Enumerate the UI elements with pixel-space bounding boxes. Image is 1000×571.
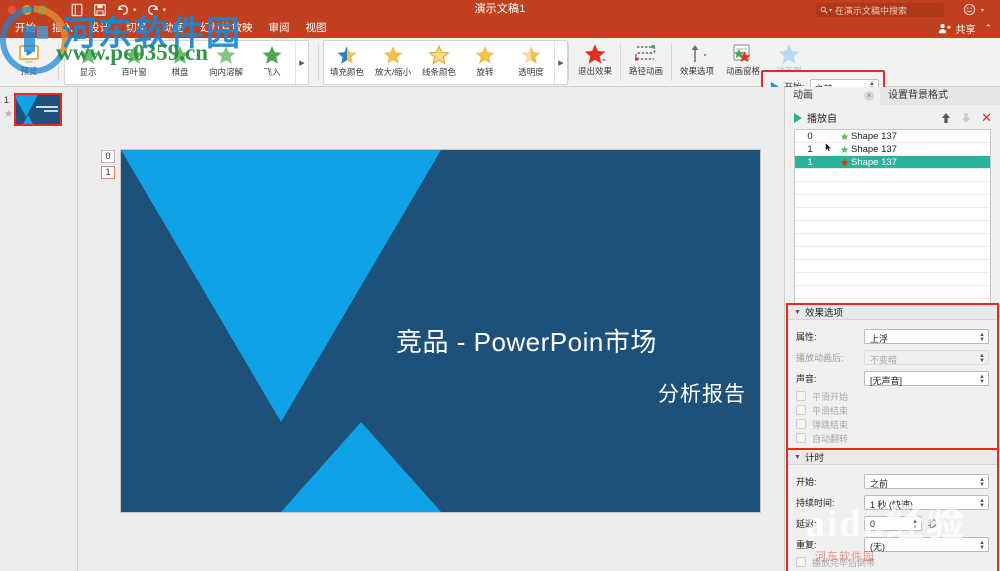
arrow-up-icon — [685, 41, 709, 67]
property-select[interactable]: 上浮 ▲▼ — [864, 329, 989, 344]
timing-title: 计时 — [805, 450, 824, 464]
motion-paths-button[interactable]: 路径动画 — [623, 38, 669, 85]
timing-repeat-label: 重复: — [796, 538, 864, 551]
star-red-icon — [583, 41, 607, 67]
tab-view[interactable]: 视图 — [298, 19, 335, 38]
animation-pane-icon — [731, 41, 755, 67]
auto-reverse-label: 自动翻转 — [812, 432, 848, 445]
animation-list[interactable]: 0 Shape 137 1 Shape 137 1 — [794, 129, 991, 311]
preview-play-icon — [17, 41, 41, 67]
tab-animation-pane[interactable]: 动画 × — [785, 87, 880, 105]
star-icon — [4, 109, 13, 118]
after-animation-value: 不变暗 — [870, 355, 897, 365]
star-fade-icon — [520, 42, 542, 68]
slide-editor: 0 1 竞品 - PowerPoin市场 分析报告 — [78, 87, 784, 571]
effect-label: 线条颜色 — [422, 68, 456, 77]
ribbon-group-emphasis: 填充颜色 放大/缩小 线条颜色 — [323, 38, 568, 87]
effect-appear[interactable]: 显示 — [65, 39, 111, 86]
ribbon-divider — [671, 44, 672, 81]
effect-label: 透明度 — [518, 68, 544, 77]
animation-pane-label: 动画窗格 — [726, 67, 760, 76]
star-outline-icon — [428, 42, 450, 68]
stepper-arrows-icon: ▲▼ — [978, 352, 986, 365]
smooth-start-checkbox[interactable] — [796, 391, 806, 401]
list-empty-row — [795, 208, 990, 221]
preview-button[interactable]: 预览 — [6, 38, 52, 85]
slide-subtitle-text[interactable]: 分析报告 — [658, 378, 746, 408]
property-row: 属性: 上浮 ▲▼ — [796, 326, 989, 347]
animation-pane-button[interactable]: 动画窗格 — [720, 38, 766, 85]
effect-label: 向内溶解 — [209, 68, 243, 77]
exit-effects-label: 退出效果 — [578, 67, 612, 76]
thumb-triangle-bottom — [23, 115, 33, 124]
list-empty-row — [795, 273, 990, 286]
effect-options-button[interactable]: 效果选项 — [674, 38, 720, 85]
stepper-arrows-icon[interactable]: ▲▼ — [978, 539, 986, 552]
timing-repeat-row: 重复: (无) ▲▼ — [796, 534, 989, 555]
property-value: 上浮 — [870, 334, 888, 344]
ribbon-divider — [58, 44, 59, 81]
ribbon-divider — [568, 44, 569, 81]
effect-options-section: ▼ 效果选项 属性: 上浮 ▲▼ 播放动画后: 不变暗 ▲▼ — [786, 303, 999, 451]
effect-spin[interactable]: 旋转 — [462, 39, 508, 86]
entrance-gallery-more-icon[interactable]: ▶ — [295, 41, 308, 84]
add-person-icon — [938, 23, 951, 34]
timing-start-select[interactable]: 之前 ▲▼ — [864, 474, 989, 489]
arrow-down-icon[interactable] — [961, 112, 971, 124]
ribbon-tab-bar: 开始 插入 设计 切换 动画 幻灯片放映 审阅 视图 共享 ⌃ — [0, 19, 1000, 38]
smiley-dropdown-caret-icon[interactable]: ▾ — [981, 7, 984, 14]
property-label: 属性: — [796, 330, 864, 343]
timing-delay-unit: 秒 — [928, 517, 937, 530]
ribbon-divider — [318, 44, 319, 81]
slide-title-text[interactable]: 竞品 - PowerPoin市场 — [396, 322, 746, 359]
stepper-arrows-icon[interactable]: ▲▼ — [978, 373, 986, 386]
timing-duration-label: 持续时间: — [796, 496, 864, 509]
bounce-end-label: 弹跳结束 — [812, 418, 848, 431]
timing-start-row: 开始: 之前 ▲▼ — [796, 471, 989, 492]
star-green-icon — [837, 145, 851, 154]
after-animation-row: 播放动画后: 不变暗 ▲▼ — [796, 347, 989, 368]
ribbon: 预览 显示 百叶窗 — [0, 38, 1000, 87]
tab-insert[interactable]: 插入 — [44, 19, 81, 38]
arrow-up-icon[interactable] — [941, 112, 951, 124]
timing-repeat-select[interactable]: (无) ▲▼ — [864, 537, 989, 552]
list-empty-row — [795, 286, 990, 299]
shape-triangle-small[interactable] — [281, 422, 441, 512]
tab-animation-label: 动画 — [793, 90, 813, 101]
tab-format-background-label: 设置背景格式 — [888, 90, 948, 101]
stepper-arrows-icon[interactable]: ▲▼ — [911, 518, 919, 531]
list-item[interactable]: 0 Shape 137 — [795, 130, 990, 143]
ribbon-group-entrance: 显示 百叶窗 棋盘 向 — [64, 38, 309, 87]
star-green-icon — [169, 42, 191, 68]
effect-label: 显示 — [79, 68, 96, 77]
smooth-end-checkbox[interactable] — [796, 405, 806, 415]
ribbon-tabs: 开始 插入 设计 切换 动画 幻灯片放映 审阅 视图 — [0, 19, 1000, 38]
timing-delay-value: 0 — [870, 519, 875, 529]
smiley-icon[interactable] — [963, 3, 976, 16]
motion-paths-label: 路径动画 — [629, 67, 663, 76]
animation-index: 0 — [795, 131, 825, 142]
list-empty-row — [795, 234, 990, 247]
timing-body: 开始: 之前 ▲▼ 持续时间: 1 秒 (快速) ▲▼ 延迟: — [788, 465, 997, 571]
effect-grow-shrink[interactable]: 放大/缩小 — [370, 39, 416, 86]
close-x-icon[interactable]: ✕ — [981, 113, 992, 123]
slide-thumbnail-item[interactable]: 1 — [0, 87, 77, 126]
star-gold-icon — [474, 42, 496, 68]
star-green-icon — [123, 42, 145, 68]
sound-value: [无声音] — [870, 376, 902, 386]
rewind-checkbox[interactable] — [796, 557, 806, 567]
animation-shape-name: Shape 137 — [851, 157, 990, 168]
animation-shape-name: Shape 137 — [851, 144, 990, 155]
thumb-text-lines — [36, 106, 58, 114]
smooth-end-row[interactable]: 平滑结束 — [796, 403, 989, 417]
slide-thumbnail[interactable] — [14, 93, 62, 126]
effect-label: 填充颜色 — [330, 68, 364, 77]
timing-delay-input[interactable]: 0 ▲▼ — [864, 516, 922, 531]
star-green-icon — [261, 42, 283, 68]
effect-label: 旋转 — [476, 68, 493, 77]
ribbon-divider — [620, 44, 621, 81]
after-animation-label: 播放动画后: — [796, 351, 864, 364]
star-green-icon — [837, 132, 851, 141]
effect-options-body: 属性: 上浮 ▲▼ 播放动画后: 不变暗 ▲▼ 声音: [ — [788, 320, 997, 449]
bounce-end-checkbox[interactable] — [796, 419, 806, 429]
effect-label: 放大/缩小 — [375, 68, 411, 77]
chevron-up-icon[interactable]: ⌃ — [984, 23, 992, 34]
stepper-arrows-icon[interactable]: ▲▼ — [978, 476, 986, 489]
animation-painter-icon — [777, 41, 801, 67]
timing-repeat-value: (无) — [870, 542, 885, 552]
timing-duration-value: 1 秒 (快速) — [870, 500, 913, 510]
timing-delay-label: 延迟: — [796, 517, 864, 530]
timing-section: ▼ 计时 开始: 之前 ▲▼ 持续时间: 1 秒 (快速) ▲▼ — [786, 448, 999, 571]
after-animation-select[interactable]: 不变暗 ▲▼ — [864, 350, 989, 365]
powerpoint-window: ▾ ▾ 演示文稿1 ▾ 在演示文稿中搜索 ▾ 开始 插入 — [0, 0, 1000, 571]
play-from-button[interactable]: 播放自 — [807, 110, 837, 125]
star-green-icon — [77, 42, 99, 68]
smooth-start-label: 平滑开始 — [812, 390, 848, 403]
search-icon — [820, 6, 828, 14]
animation-tag-1[interactable]: 1 — [101, 166, 115, 179]
mouse-pointer-icon — [825, 143, 837, 155]
effect-fill-color[interactable]: 填充颜色 — [324, 39, 370, 86]
sound-row: 声音: [无声音] ▲▼ — [796, 368, 989, 389]
title-bar: ▾ ▾ 演示文稿1 ▾ 在演示文稿中搜索 ▾ — [0, 0, 1000, 19]
effect-options-header[interactable]: ▼ 效果选项 — [788, 305, 997, 320]
effect-label: 百叶窗 — [121, 68, 147, 77]
caret-down-icon[interactable]: ▼ — [794, 454, 801, 461]
timing-start-label: 开始: — [796, 475, 864, 488]
stepper-arrows-icon[interactable]: ▲▼ — [978, 497, 986, 510]
slide-canvas[interactable]: 竞品 - PowerPoin市场 分析报告 — [121, 150, 760, 512]
ribbon-group-preview: 预览 — [6, 38, 52, 87]
timing-start-value: 之前 — [870, 479, 888, 489]
timing-duration-select[interactable]: 1 秒 (快速) ▲▼ — [864, 495, 989, 510]
star-green-icon — [215, 42, 237, 68]
tab-slideshow[interactable]: 幻灯片放映 — [192, 19, 261, 38]
timing-duration-row: 持续时间: 1 秒 (快速) ▲▼ — [796, 492, 989, 513]
emphasis-gallery-more-icon[interactable]: ▶ — [554, 41, 567, 84]
task-pane-tabs: 动画 × 设置背景格式 — [785, 87, 1000, 105]
sound-select[interactable]: [无声音] ▲▼ — [864, 371, 989, 386]
animation-index: 1 — [795, 157, 825, 168]
effect-options-label: 效果选项 — [680, 67, 714, 76]
smooth-start-row[interactable]: 平滑开始 — [796, 389, 989, 403]
share-group[interactable]: 共享 ⌃ — [938, 19, 992, 38]
effect-label: 棋盘 — [171, 68, 188, 77]
smooth-end-label: 平滑结束 — [812, 404, 848, 417]
tab-animations[interactable]: 动画 — [155, 19, 192, 38]
emphasis-effects-gallery[interactable]: 填充颜色 放大/缩小 线条颜色 — [323, 40, 568, 85]
list-empty-row — [795, 260, 990, 273]
animation-order-tags: 0 1 — [101, 150, 115, 182]
animation-shape-name: Shape 137 — [851, 131, 990, 142]
list-empty-row — [795, 195, 990, 208]
tab-transitions[interactable]: 切换 — [118, 19, 155, 38]
bounce-end-row[interactable]: 弹跳结束 — [796, 417, 989, 431]
tab-home[interactable]: 开始 — [7, 19, 44, 38]
star-blue-icon — [336, 42, 358, 68]
entrance-effects-gallery[interactable]: 显示 百叶窗 棋盘 向 — [64, 40, 309, 85]
effect-options-title: 效果选项 — [805, 305, 843, 319]
play-from-row: 播放自 ✕ — [785, 105, 1000, 129]
play-triangle-icon[interactable] — [794, 113, 802, 123]
stepper-arrows-icon[interactable]: ▲▼ — [978, 331, 986, 344]
thumb-triangle-top — [14, 95, 38, 117]
star-red-icon — [837, 158, 851, 167]
star-sparkle-icon — [382, 42, 404, 68]
tab-design[interactable]: 设计 — [81, 19, 118, 38]
effect-line-color[interactable]: 线条颜色 — [416, 39, 462, 86]
auto-reverse-checkbox[interactable] — [796, 433, 806, 443]
list-item[interactable]: 1 Shape 137 — [795, 156, 990, 169]
slides-thumbnail-pane[interactable]: 1 — [0, 87, 78, 571]
effect-blinds[interactable]: 百叶窗 — [111, 39, 157, 86]
list-empty-row — [795, 182, 990, 195]
effect-label: 飞入 — [263, 68, 280, 77]
list-item[interactable]: 1 Shape 137 — [795, 143, 990, 156]
right-task-pane: 动画 × 设置背景格式 播放自 ✕ 0 — [784, 87, 1000, 571]
share-button[interactable]: 共享 — [955, 21, 975, 36]
sound-label: 声音: — [796, 372, 864, 385]
list-empty-row — [795, 169, 990, 182]
list-action-buttons: ✕ — [941, 112, 992, 124]
effect-dissolve-in[interactable]: 向内溶解 — [203, 39, 249, 86]
shape-triangle-large[interactable] — [121, 150, 441, 422]
caret-down-icon[interactable]: ▼ — [794, 309, 801, 316]
animation-tag-0[interactable]: 0 — [101, 150, 115, 163]
tab-review[interactable]: 审阅 — [261, 19, 298, 38]
list-empty-row — [795, 247, 990, 260]
effect-checkerboard[interactable]: 棋盘 — [157, 39, 203, 86]
rewind-row[interactable]: 播放完毕后倒带 — [796, 555, 989, 569]
list-empty-row — [795, 221, 990, 234]
effect-fly-in[interactable]: 飞入 — [249, 39, 295, 86]
tab-format-background[interactable]: 设置背景格式 — [880, 87, 956, 105]
animation-index: 1 — [795, 144, 825, 155]
motion-path-icon — [634, 41, 658, 67]
preview-label: 预览 — [20, 67, 37, 76]
search-placeholder: 在演示文稿中搜索 — [835, 4, 907, 17]
search-box[interactable]: ▾ 在演示文稿中搜索 — [816, 3, 944, 17]
timing-delay-row: 延迟: 0 ▲▼ 秒 — [796, 513, 989, 534]
search-dropdown-caret-icon[interactable]: ▾ — [829, 7, 832, 14]
rewind-label: 播放完毕后倒带 — [812, 556, 875, 569]
exit-effects-button[interactable]: 退出效果 — [572, 38, 618, 85]
effect-transparency[interactable]: 透明度 — [508, 39, 554, 86]
timing-header[interactable]: ▼ 计时 — [788, 450, 997, 465]
close-circle-icon[interactable]: × — [864, 91, 874, 101]
auto-reverse-row[interactable]: 自动翻转 — [796, 431, 989, 445]
